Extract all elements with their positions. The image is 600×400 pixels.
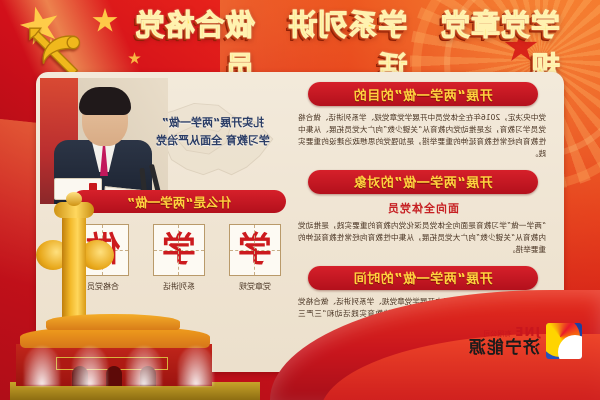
fountain-icon [24, 346, 60, 386]
logo-subline: JNE 有限公司 [468, 326, 540, 338]
glyph-box: 学 [153, 224, 205, 276]
logo-company-name: 济宁能源 [468, 340, 540, 357]
section-purpose-title: 开展“两学一做”的目的 [353, 85, 493, 104]
section-audience-body: “两学一做”学习教育是面向全体党员深化党内教育的重要实践，是推动党内教育从“关键… [292, 220, 554, 256]
company-logo: JNE 有限公司 济宁能源 [434, 320, 582, 362]
right-headline: 扎实开展“两学一做” 学习教育 全面从严治党 [138, 114, 288, 150]
glyph-box: 学 [229, 224, 281, 276]
logo-text: JNE 有限公司 济宁能源 [468, 326, 540, 357]
section-audience-subtitle: 面向全体党员 [292, 200, 554, 216]
logo-abbrev: JNE [514, 326, 540, 338]
fountain-icon [178, 346, 214, 386]
right-headline-line1: 扎实开展“两学一做” [138, 114, 288, 132]
huabiao-top [66, 192, 82, 206]
section-audience-ribbon: 开展“两学一做”的对象 [308, 170, 538, 194]
card-glyph: 学 [162, 233, 196, 267]
what-is-title: 什么是“两学一做” [127, 192, 231, 211]
section-time-title: 开展“两学一做”的时间 [353, 268, 493, 287]
concept-card: 学 系列讲话 [150, 224, 208, 292]
concept-card: 学 党章党规 [226, 224, 284, 292]
gate-roof-upper [46, 314, 180, 330]
tiananmen-gate-icon [10, 312, 260, 400]
fountain-icon [72, 346, 108, 386]
section-purpose-body: 党中央决定，2016年在全体党员中开展学党章党规、学系列讲话、做合格党员学习教育… [292, 112, 554, 160]
section-purpose-ribbon: 开展“两学一做”的目的 [308, 82, 538, 106]
section-audience: 开展“两学一做”的对象 面向全体党员 “两学一做”学习教育是面向全体党员深化党内… [292, 170, 554, 256]
logo-company-suffix: 有限公司 [483, 331, 511, 338]
section-time-ribbon: 开展“两学一做”的时间 [308, 266, 538, 290]
card-glyph: 学 [238, 233, 272, 267]
gate-arch [106, 366, 122, 386]
fountain-icon [126, 346, 162, 386]
card-label: 党章党规 [226, 281, 284, 292]
section-audience-title: 开展“两学一做”的对象 [353, 172, 493, 191]
section-purpose: 开展“两学一做”的目的 党中央决定，2016年在全体党员中开展学党章党规、学系列… [292, 82, 554, 160]
right-headline-line2: 学习教育 全面从严治党 [138, 132, 288, 150]
jne-logo-mark [546, 323, 582, 359]
poster-canvas: 学党章党规 学系列讲话 做合格党员 开展“两学一做”的目的 党中央决定，2016… [0, 0, 600, 400]
poster-title: 学党章党规 学系列讲话 做合格党员 [120, 22, 560, 66]
photo-hair [79, 87, 131, 115]
card-label: 系列讲话 [150, 281, 208, 292]
